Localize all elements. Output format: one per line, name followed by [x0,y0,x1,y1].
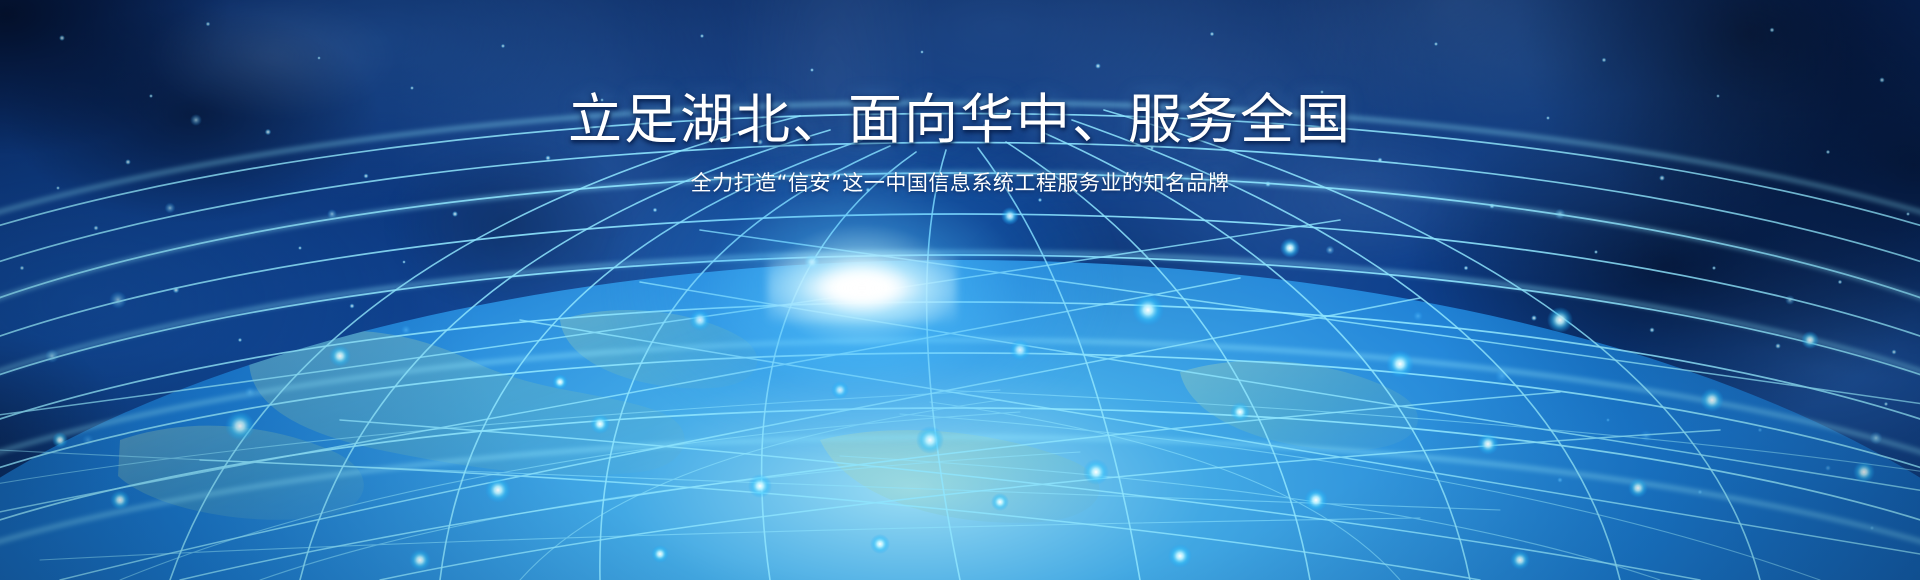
background-radial-gradient [0,0,1920,580]
hero-banner: 立足湖北、面向华中、服务全国 全力打造“信安”这一中国信息系统工程服务业的知名品… [0,0,1920,580]
